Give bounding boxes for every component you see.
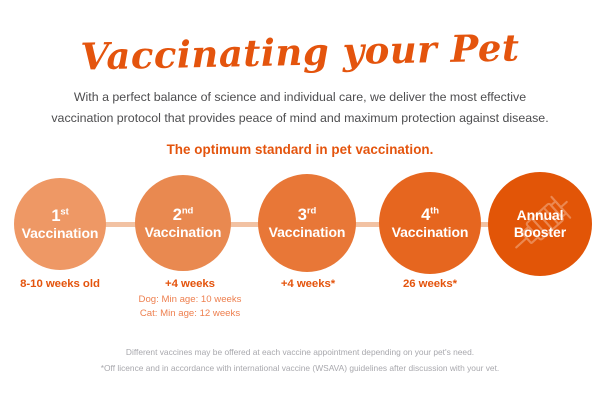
- node-5-line-2: Booster: [514, 224, 566, 240]
- node-5-line-1: Annual: [517, 207, 564, 223]
- node-4-word: Vaccination: [392, 224, 469, 241]
- node-1-label: 1st Vaccination: [22, 207, 99, 242]
- node-3-label: 3rd Vaccination: [269, 206, 346, 241]
- subheading: The optimum standard in pet vaccination.: [0, 142, 600, 157]
- node-2-ordinal: 2nd: [145, 206, 222, 224]
- footnote-line-2: *Off licence and in accordance with inte…: [0, 361, 600, 377]
- node-2-label: 2nd Vaccination: [145, 206, 222, 241]
- node-4-label: 4th Vaccination: [392, 206, 469, 241]
- footnote: Different vaccines may be offered at eac…: [0, 345, 600, 376]
- vaccination-timeline: 1st Vaccination 2nd Vaccination 3rd Vacc…: [0, 172, 600, 287]
- timeline-captions: 8-10 weeks old +4 weeks Dog: Min age: 10…: [0, 278, 600, 334]
- header: Vaccinating your Pet With a perfect bala…: [0, 0, 600, 157]
- footnote-line-1: Different vaccines may be offered at eac…: [0, 345, 600, 361]
- node-3-ordinal: 3rd: [269, 206, 346, 224]
- caption-4-main: 26 weeks*: [370, 278, 490, 290]
- page-title: Vaccinating your Pet: [0, 28, 600, 78]
- timeline-node-5[interactable]: Annual Booster: [488, 172, 592, 276]
- node-4-ordinal-suffix: th: [430, 205, 439, 216]
- timeline-node-3[interactable]: 3rd Vaccination: [258, 174, 356, 272]
- node-1-word: Vaccination: [22, 225, 99, 242]
- caption-2-sub-1: Dog: Min age: 10 weeks: [113, 293, 267, 307]
- timeline-node-1[interactable]: 1st Vaccination: [14, 178, 106, 270]
- node-2-ordinal-suffix: nd: [182, 205, 193, 216]
- caption-2-sub-2: Cat: Min age: 12 weeks: [113, 307, 267, 321]
- intro-line-1: With a perfect balance of science and in…: [30, 87, 570, 108]
- node-1-ordinal: 1st: [22, 207, 99, 225]
- node-2-word: Vaccination: [145, 224, 222, 241]
- caption-node-4: 26 weeks*: [370, 278, 490, 290]
- node-3-ordinal-suffix: rd: [307, 205, 316, 216]
- caption-node-3: +4 weeks*: [248, 278, 368, 290]
- caption-1-main: 8-10 weeks old: [0, 278, 120, 290]
- node-4-ordinal: 4th: [392, 206, 469, 224]
- caption-3-main: +4 weeks*: [248, 278, 368, 290]
- timeline-node-2[interactable]: 2nd Vaccination: [135, 175, 231, 271]
- node-5-label: Annual Booster: [514, 207, 566, 242]
- caption-node-1: 8-10 weeks old: [0, 278, 120, 290]
- intro-line-2: vaccination protocol that provides peace…: [30, 108, 570, 129]
- caption-node-2: +4 weeks Dog: Min age: 10 weeks Cat: Min…: [113, 278, 267, 322]
- node-3-word: Vaccination: [269, 224, 346, 241]
- intro-paragraph: With a perfect balance of science and in…: [30, 87, 570, 130]
- node-1-ordinal-suffix: st: [60, 206, 68, 217]
- timeline-node-4[interactable]: 4th Vaccination: [379, 172, 481, 274]
- caption-2-main: +4 weeks: [113, 278, 267, 290]
